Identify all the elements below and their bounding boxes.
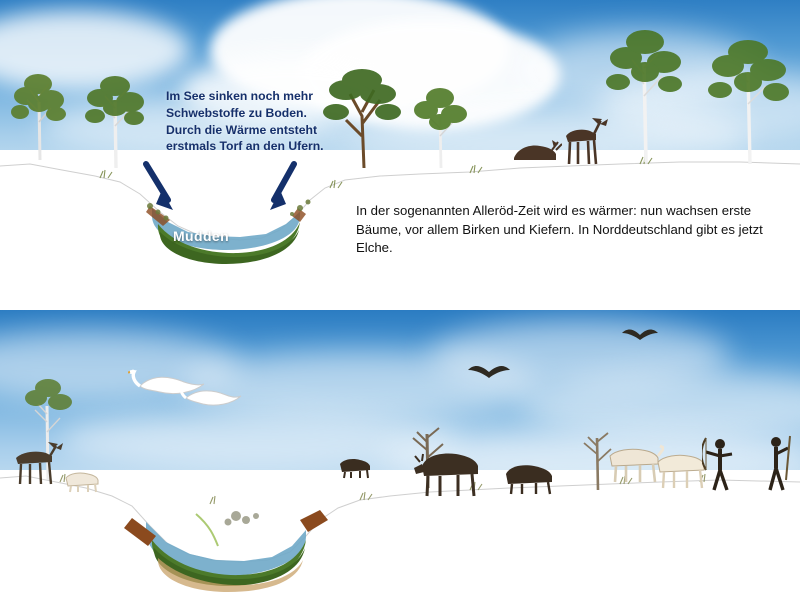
kleintier [334,454,372,480]
kleintier [60,468,100,494]
birke-tree [404,78,478,170]
panel-divider [0,290,800,310]
wisent [498,456,554,496]
greifvogel [466,360,512,386]
panel1-overlay-note: Im See sinken noch mehr Schwebstoffe zu … [166,88,341,155]
jaeger-mit-speer [760,434,794,494]
schwan [176,376,242,414]
illustration-page: Im See sinken noch mehr Schwebstoffe zu … [0,0,800,600]
wisent [412,442,486,500]
wildpferd [650,446,710,492]
panel-juengere-dryas: Die Torfbildung kommt erst einmal wieder… [0,310,800,600]
jaeger-mit-bogen [702,436,738,494]
birke-tree [600,24,692,164]
birke-tree [80,62,152,170]
elch-stehend [552,112,608,170]
rentier [6,438,64,490]
panel1-caption: In der sogenannten Alleröd-Zeit wird es … [356,202,776,258]
panel-allerod: Im See sinken noch mehr Schwebstoffe zu … [0,0,800,290]
arrow-down-left-icon [140,160,186,218]
arrow-down-right-icon [258,160,304,218]
birke-tree [6,52,76,162]
greifvogel [620,324,660,348]
birke-tree [700,36,800,166]
mudden-label-panel1: Mudden [173,228,229,244]
